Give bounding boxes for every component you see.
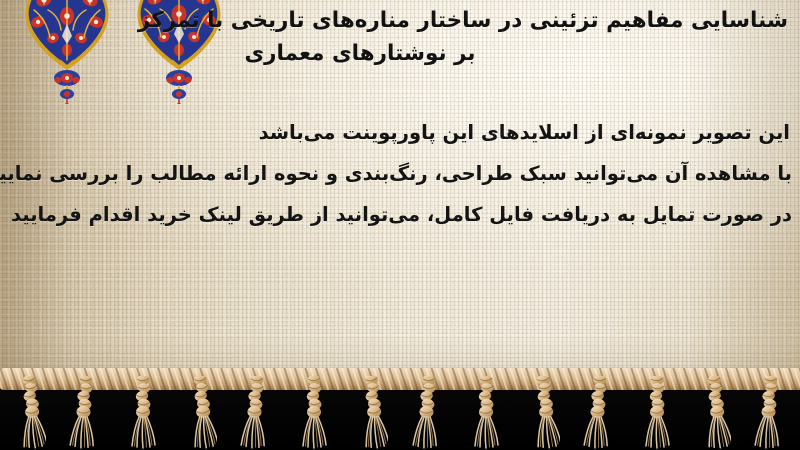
fringe-tassel	[183, 376, 217, 450]
body-line-3: در صورت تمایل به دریافت فایل کامل، می‌تو…	[8, 194, 792, 235]
fringe-tassel	[354, 376, 388, 450]
fringe-tassel	[12, 376, 46, 450]
fringe-rope-band	[0, 368, 800, 390]
fringe-tassel	[526, 376, 560, 450]
fringe-tassel	[754, 376, 788, 450]
knotted-tassel-fringe	[0, 368, 800, 450]
fringe-tassel	[583, 376, 617, 450]
slide-canvas: شناسایی مفاهیم تزئینی در ساختار مناره‌ها…	[0, 0, 800, 450]
fringe-tassel	[697, 376, 731, 450]
fringe-tassel	[412, 376, 446, 450]
fringe-tassel	[69, 376, 103, 450]
fringe-tassel	[469, 376, 503, 450]
slide-title: شناسایی مفاهیم تزئینی در ساختار مناره‌ها…	[10, 4, 790, 70]
fringe-tassel	[297, 376, 331, 450]
body-line-1: این تصویر نمونه‌ای از اسلایدهای این پاور…	[8, 112, 792, 153]
fringe-tassel	[240, 376, 274, 450]
fringe-tassel	[640, 376, 674, 450]
fringe-black-backdrop	[0, 380, 800, 450]
body-line-2: با مشاهده آن می‌توانید سبک طراحی، رنگ‌بن…	[8, 153, 792, 194]
slide-title-line-1: شناسایی مفاهیم تزئینی در ساختار مناره‌ها…	[10, 4, 790, 37]
slide-title-line-2: بر نوشتارهای معماری	[10, 37, 790, 70]
slide-body: این تصویر نمونه‌ای از اسلایدهای این پاور…	[8, 112, 792, 235]
fringe-tassel	[126, 376, 160, 450]
